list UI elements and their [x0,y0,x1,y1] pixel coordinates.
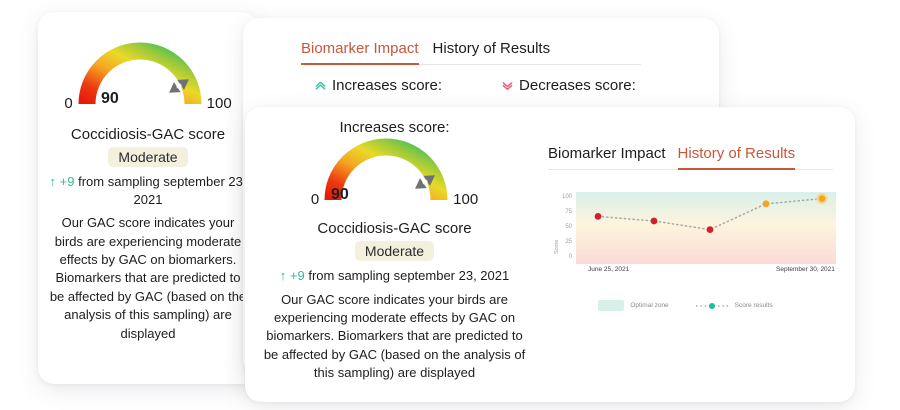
gauge-arc-icon [75,42,205,110]
decreases-score-label: Decreases score: [519,77,636,94]
chart-xtick-end: September 30, 2021 [776,266,835,273]
gauge-mid-label: 90 [101,90,119,108]
legend-item-score-results: Score results [695,302,773,310]
chart-ytick-75: 75 [556,209,572,215]
increases-score-heading-front: Increases score: [253,119,536,136]
score-badge-row-front: Moderate [253,241,536,261]
tab-history-of-results-front[interactable]: History of Results [678,145,796,170]
chart-ytick-25: 25 [556,239,572,245]
score-card-back: 0 [38,12,258,384]
score-description-front: Our GAC score indicates your birds are e… [253,291,536,383]
gauge-min-label-front: 0 [311,191,319,208]
score-title-front: Coccidiosis-GAC score [253,220,536,237]
tab-biomarker-impact-front[interactable]: Biomarker Impact [548,145,666,170]
status-badge-back: Moderate [108,147,187,167]
legend-label-score-results: Score results [735,302,773,309]
decreases-score-item: Decreases score: [502,77,636,94]
chevron-double-down-icon [502,80,513,91]
chart-xtick-start: June 25, 2021 [588,266,629,273]
score-delta-back: ↑ +9 from sampling september 23, 2021 [38,173,258,208]
score-title-back: Coccidiosis-GAC score [38,126,258,143]
optimal-zone-swatch-icon [598,300,624,311]
increases-score-item: Increases score: [315,77,442,94]
delta-text-front: from sampling september 23, 2021 [308,268,509,283]
results-card-front: Increases score: 0 [245,107,855,402]
score-panel-front: Increases score: 0 [245,107,544,402]
chart-point[interactable] [707,226,714,233]
delta-value-front: +9 [290,268,305,283]
chart-point[interactable] [651,218,658,225]
score-description-back: Our GAC score indicates your birds are e… [38,214,258,343]
gauge-min-label: 0 [64,95,72,112]
gauge-front: 0 [253,144,536,206]
gauge-max-label-front: 100 [453,191,478,208]
gauge-mid-label-front: 90 [331,186,349,204]
chart-point-latest[interactable] [819,195,826,202]
chart-legend: Optimal zone Score results [548,300,833,311]
gauge-back: 0 [38,48,258,110]
front-card-body: Increases score: 0 [245,107,855,402]
tabs-container-middle: Biomarker Impact History of Results [243,18,719,65]
tab-history-of-results-middle[interactable]: History of Results [433,40,551,65]
history-panel-front: Biomarker Impact History of Results Scor… [544,107,855,402]
chart-plot-area [576,192,836,264]
chart-point[interactable] [763,200,770,207]
tabs-middle: Biomarker Impact History of Results [301,40,697,65]
chart-ytick-50: 50 [556,224,572,230]
chart-point[interactable] [595,213,602,220]
legend-item-optimal-zone: Optimal zone [598,300,668,311]
tabs-front: Biomarker Impact History of Results [548,145,833,170]
chart-ytick-100: 100 [556,194,572,200]
delta-value-back: +9 [60,174,75,189]
delta-up-arrow-icon: ↑ [50,174,57,189]
tabs-container-front: Biomarker Impact History of Results [548,145,833,170]
tab-biomarker-impact-middle[interactable]: Biomarker Impact [301,40,419,65]
impact-legend-middle: Increases score: Decreases score: [243,77,719,94]
increases-score-label: Increases score: [332,77,442,94]
score-badge-row-back: Moderate [38,147,258,167]
status-badge-front: Moderate [355,241,434,261]
gauge-max-label: 100 [207,95,232,112]
score-delta-front: ↑ +9 from sampling september 23, 2021 [253,267,536,285]
screenshot-stage: 0 [0,0,900,410]
score-results-line-icon [695,302,729,310]
chevron-double-up-icon [315,80,326,91]
legend-label-optimal-zone: Optimal zone [630,302,668,309]
delta-text-back: from sampling september 23, 2021 [78,174,246,207]
history-chart: Score 100 75 50 25 0 [548,192,833,278]
delta-up-arrow-icon-front: ↑ [280,268,287,283]
chart-ytick-0: 0 [556,254,572,260]
